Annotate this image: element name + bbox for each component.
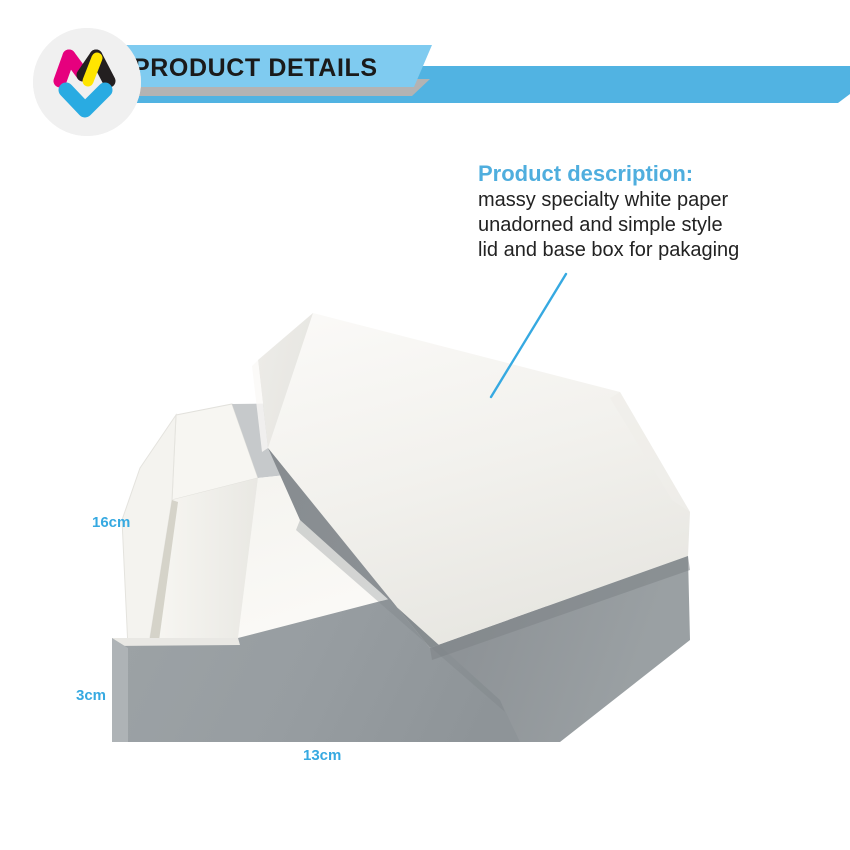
tray-front-top-rim: [112, 638, 240, 646]
dimension-label-depth: 3cm: [76, 687, 106, 704]
product-image: [0, 0, 850, 850]
tray-left-edge: [112, 638, 128, 742]
dimension-label-height: 16cm: [92, 514, 130, 531]
dimension-label-width: 13cm: [303, 747, 341, 764]
product-details-page: PRODUCT DETAILS Pro: [0, 0, 850, 850]
